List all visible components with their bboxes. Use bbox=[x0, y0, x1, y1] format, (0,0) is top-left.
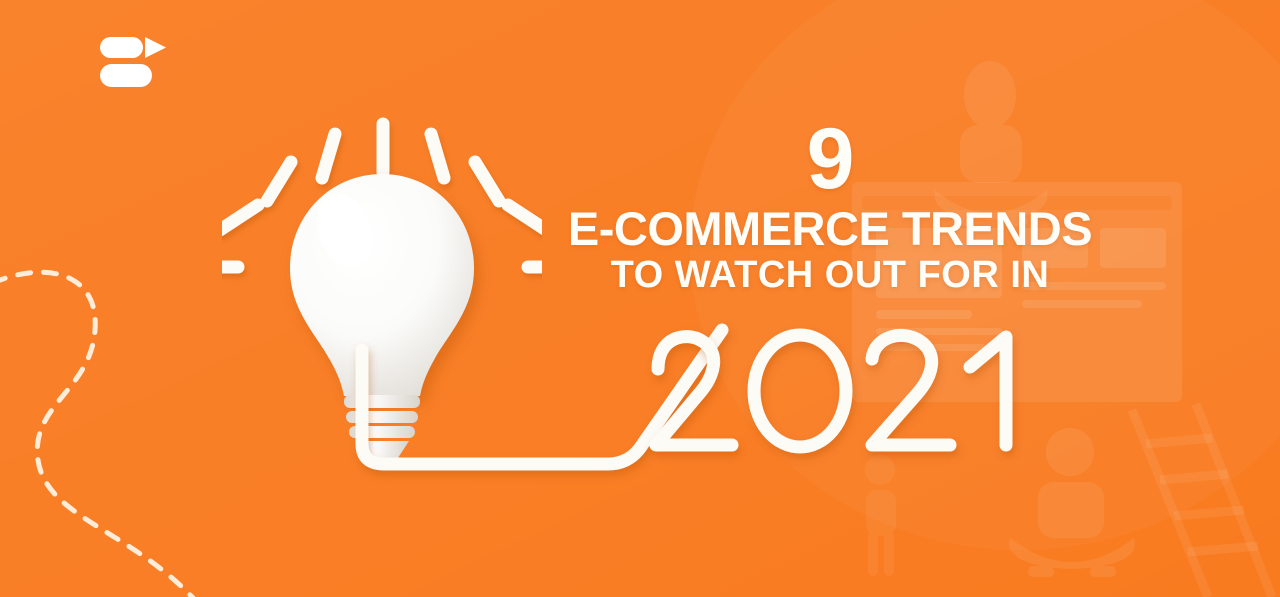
headline-line-1: E-COMMERCE TRENDS bbox=[520, 205, 1140, 253]
logo-bottom-bar bbox=[100, 64, 152, 87]
logo-triangle bbox=[145, 37, 166, 58]
headline-number: 9 bbox=[520, 118, 1140, 201]
year-digit-2a bbox=[656, 337, 732, 445]
headline-year bbox=[640, 325, 1040, 470]
year-digit-1 bbox=[970, 337, 1006, 445]
year-digit-0 bbox=[754, 335, 846, 447]
headline-block: 9 E-COMMERCE TRENDS TO WATCH OUT FOR IN bbox=[520, 118, 1140, 298]
year-digit-2b bbox=[872, 335, 950, 445]
headline-line-2: TO WATCH OUT FOR IN bbox=[520, 254, 1140, 298]
logo-top-bar bbox=[100, 37, 143, 58]
bg-figure-standing bbox=[865, 455, 896, 576]
bg-ladder bbox=[1132, 404, 1272, 597]
promo-banner: 9 E-COMMERCE TRENDS TO WATCH OUT FOR IN bbox=[0, 0, 1280, 597]
brand-logo[interactable] bbox=[100, 35, 178, 89]
background-illustration bbox=[0, 0, 1280, 597]
